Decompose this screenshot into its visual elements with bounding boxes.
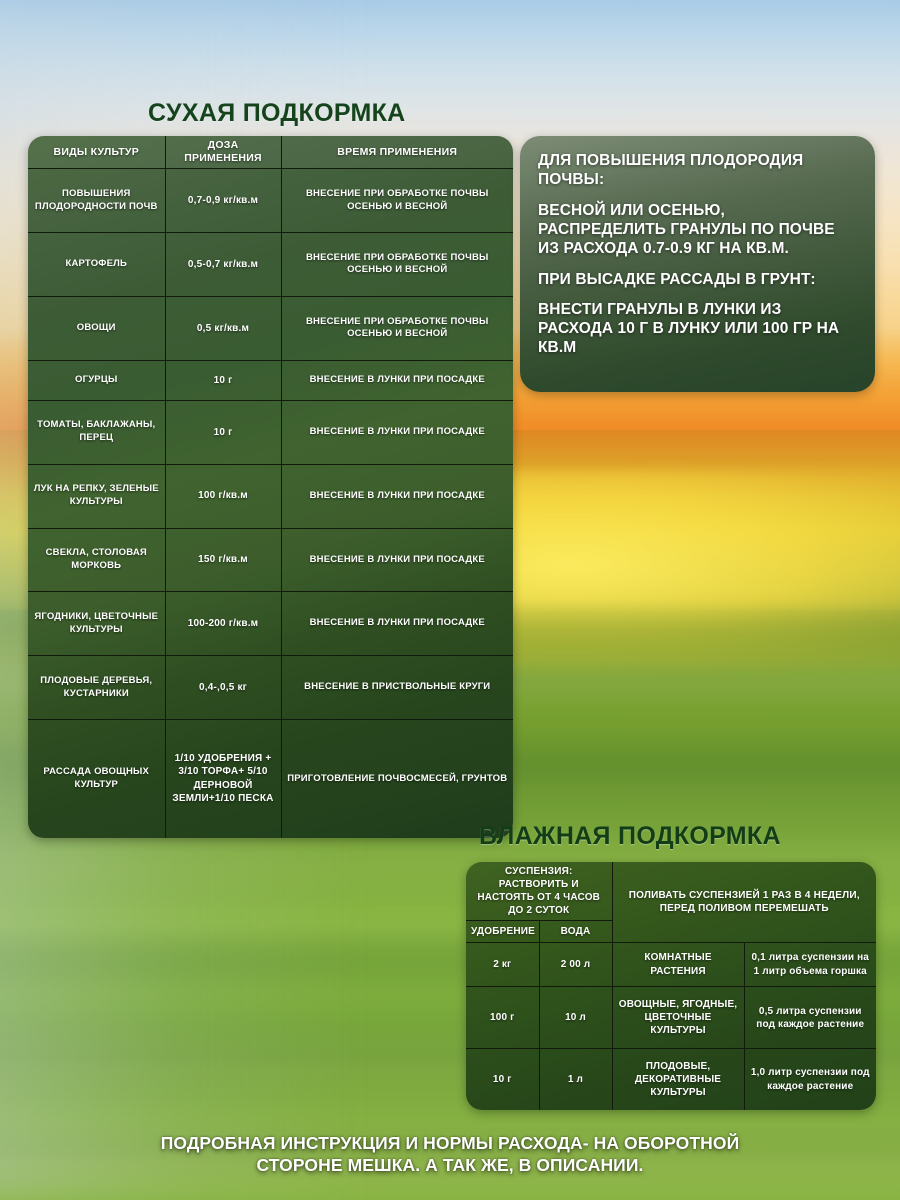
cell-crop: СВЕКЛА, СТОЛОВАЯ МОРКОВЬ [28,528,165,592]
cell-time: ВНЕСЕНИЕ В ЛУНКИ ПРИ ПОСАДКЕ [281,360,513,400]
cell-crop: ПЛОДОВЫЕ ДЕРЕВЬЯ, КУСТАРНИКИ [28,656,165,720]
cell-crop: КАРТОФЕЛЬ [28,233,165,297]
table-row: ПЛОДОВЫЕ ДЕРЕВЬЯ, КУСТАРНИКИ 0,4-,0,5 кг… [28,656,513,720]
cell-time: ВНЕСЕНИЕ В ЛУНКИ ПРИ ПОСАДКЕ [281,400,513,464]
cell-culture: ПЛОДОВЫЕ, ДЕКОРАТИВНЫЕ КУЛЬТУРЫ [612,1049,744,1110]
fertility-heading-1: ДЛЯ ПОВЫШЕНИЯ ПЛОДОРОДИЯ ПОЧВЫ: [538,152,857,190]
table-row: ТОМАТЫ, БАКЛАЖАНЫ, ПЕРЕЦ 10 г ВНЕСЕНИЕ В… [28,400,513,464]
cell-crop: ТОМАТЫ, БАКЛАЖАНЫ, ПЕРЕЦ [28,400,165,464]
fertility-body-1: ВЕСНОЙ ИЛИ ОСЕНЬЮ, РАСПРЕДЕЛИТЬ ГРАНУЛЫ … [538,202,857,259]
footer-line-2: СТОРОНЕ МЕШКА. А ТАК ЖЕ, В ОПИСАНИИ. [0,1154,900,1176]
table-header-row: ВИДЫ КУЛЬТУР ДОЗА ПРИМЕНЕНИЯ ВРЕМЯ ПРИМЕ… [28,136,513,169]
cell-time: ВНЕСЕНИЕ В ПРИСТВОЛЬНЫЕ КРУГИ [281,656,513,720]
cell-time: ПРИГОТОВЛЕНИЕ ПОЧВОСМЕСЕЙ, ГРУНТОВ [281,719,513,838]
table-row: ПОВЫШЕНИЯ ПЛОДОРОДНОСТИ ПОЧВ 0,7-0,9 кг/… [28,169,513,233]
cell-dose: 0,5-0,7 кг/кв.м [165,233,281,297]
table-row: 10 г 1 л ПЛОДОВЫЕ, ДЕКОРАТИВНЫЕ КУЛЬТУРЫ… [466,1049,876,1110]
column-header-fertilizer: УДОБРЕНИЕ [466,921,539,943]
cell-dose: 0,5 кг/кв.м [165,296,281,360]
cell-time: ВНЕСЕНИЕ ПРИ ОБРАБОТКЕ ПОЧВЫ ОСЕНЬЮ И ВЕ… [281,233,513,297]
cell-time: ВНЕСЕНИЕ ПРИ ОБРАБОТКЕ ПОЧВЫ ОСЕНЬЮ И ВЕ… [281,296,513,360]
cell-crop: ПОВЫШЕНИЯ ПЛОДОРОДНОСТИ ПОЧВ [28,169,165,233]
column-header-watering: ПОЛИВАТЬ СУСПЕНЗИЕЙ 1 РАЗ В 4 НЕДЕЛИ, ПЕ… [612,862,876,943]
column-header-suspension: СУСПЕНЗИЯ: РАСТВОРИТЬ И НАСТОЯТЬ ОТ 4 ЧА… [466,862,612,921]
wet-feeding-heading: ВЛАЖНАЯ ПОДКОРМКА [479,822,781,851]
cell-fertilizer: 100 г [466,987,539,1049]
cell-crop: ЯГОДНИКИ, ЦВЕТОЧНЫЕ КУЛЬТУРЫ [28,592,165,656]
table-row: 2 кг 2 00 л КОМНАТНЫЕ РАСТЕНИЯ 0,1 литра… [466,943,876,987]
table-row: ОВОЩИ 0,5 кг/кв.м ВНЕСЕНИЕ ПРИ ОБРАБОТКЕ… [28,296,513,360]
cell-water: 2 00 л [539,943,612,987]
wet-feeding-table: СУСПЕНЗИЯ: РАСТВОРИТЬ И НАСТОЯТЬ ОТ 4 ЧА… [466,862,876,1110]
cell-crop: РАССАДА ОВОЩНЫХ КУЛЬТУР [28,719,165,838]
column-header-time: ВРЕМЯ ПРИМЕНЕНИЯ [281,136,513,169]
cell-dose: 0,7-0,9 кг/кв.м [165,169,281,233]
soil-fertility-panel: ДЛЯ ПОВЫШЕНИЯ ПЛОДОРОДИЯ ПОЧВЫ: ВЕСНОЙ И… [520,136,875,392]
cell-time: ВНЕСЕНИЕ В ЛУНКИ ПРИ ПОСАДКЕ [281,592,513,656]
wet-feeding-table-container: СУСПЕНЗИЯ: РАСТВОРИТЬ И НАСТОЯТЬ ОТ 4 ЧА… [466,862,876,1110]
cell-dose: 10 г [165,400,281,464]
fertility-body-2: ВНЕСТИ ГРАНУЛЫ В ЛУНКИ ИЗ РАСХОДА 10 Г В… [538,301,857,358]
cell-time: ВНЕСЕНИЕ ПРИ ОБРАБОТКЕ ПОЧВЫ ОСЕНЬЮ И ВЕ… [281,169,513,233]
cell-dose: 150 г/кв.м [165,528,281,592]
cell-crop: ОГУРЦЫ [28,360,165,400]
cell-note: 1,0 литр суспензии под каждое растение [744,1049,876,1110]
cell-crop: ЛУК НА РЕПКУ, ЗЕЛЕНЫЕ КУЛЬТУРЫ [28,464,165,528]
table-row: ЛУК НА РЕПКУ, ЗЕЛЕНЫЕ КУЛЬТУРЫ 100 г/кв.… [28,464,513,528]
dry-feeding-heading: СУХАЯ ПОДКОРМКА [148,99,406,128]
cell-dose: 100-200 г/кв.м [165,592,281,656]
column-header-crop: ВИДЫ КУЛЬТУР [28,136,165,169]
table-row: РАССАДА ОВОЩНЫХ КУЛЬТУР 1/10 УДОБРЕНИЯ +… [28,719,513,838]
cell-note: 0,5 литра суспензии под каждое растение [744,987,876,1049]
cell-dose: 0,4-,0,5 кг [165,656,281,720]
table-row: КАРТОФЕЛЬ 0,5-0,7 кг/кв.м ВНЕСЕНИЕ ПРИ О… [28,233,513,297]
table-row: ЯГОДНИКИ, ЦВЕТОЧНЫЕ КУЛЬТУРЫ 100-200 г/к… [28,592,513,656]
cell-crop: ОВОЩИ [28,296,165,360]
cell-water: 10 л [539,987,612,1049]
cell-fertilizer: 10 г [466,1049,539,1110]
table-row: СВЕКЛА, СТОЛОВАЯ МОРКОВЬ 150 г/кв.м ВНЕС… [28,528,513,592]
table-header-row: СУСПЕНЗИЯ: РАСТВОРИТЬ И НАСТОЯТЬ ОТ 4 ЧА… [466,862,876,921]
cell-dose: 100 г/кв.м [165,464,281,528]
cell-fertilizer: 2 кг [466,943,539,987]
dry-feeding-table: ВИДЫ КУЛЬТУР ДОЗА ПРИМЕНЕНИЯ ВРЕМЯ ПРИМЕ… [28,136,513,838]
footer-line-1: ПОДРОБНАЯ ИНСТРУКЦИЯ И НОРМЫ РАСХОДА- НА… [0,1132,900,1154]
dry-feeding-table-container: ВИДЫ КУЛЬТУР ДОЗА ПРИМЕНЕНИЯ ВРЕМЯ ПРИМЕ… [28,136,513,838]
cell-note: 0,1 литра суспензии на 1 литр объема гор… [744,943,876,987]
column-header-dose: ДОЗА ПРИМЕНЕНИЯ [165,136,281,169]
cell-culture: ОВОЩНЫЕ, ЯГОДНЫЕ, ЦВЕТОЧНЫЕ КУЛЬТУРЫ [612,987,744,1049]
cell-water: 1 л [539,1049,612,1110]
cell-dose: 1/10 УДОБРЕНИЯ + 3/10 ТОРФА+ 5/10 ДЕРНОВ… [165,719,281,838]
cell-culture: КОМНАТНЫЕ РАСТЕНИЯ [612,943,744,987]
fertility-heading-2: ПРИ ВЫСАДКЕ РАССАДЫ В ГРУНТ: [538,271,857,290]
cell-time: ВНЕСЕНИЕ В ЛУНКИ ПРИ ПОСАДКЕ [281,464,513,528]
table-row: 100 г 10 л ОВОЩНЫЕ, ЯГОДНЫЕ, ЦВЕТОЧНЫЕ К… [466,987,876,1049]
column-header-water: ВОДА [539,921,612,943]
cell-dose: 10 г [165,360,281,400]
table-row: ОГУРЦЫ 10 г ВНЕСЕНИЕ В ЛУНКИ ПРИ ПОСАДКЕ [28,360,513,400]
cell-time: ВНЕСЕНИЕ В ЛУНКИ ПРИ ПОСАДКЕ [281,528,513,592]
footer-note: ПОДРОБНАЯ ИНСТРУКЦИЯ И НОРМЫ РАСХОДА- НА… [0,1132,900,1177]
